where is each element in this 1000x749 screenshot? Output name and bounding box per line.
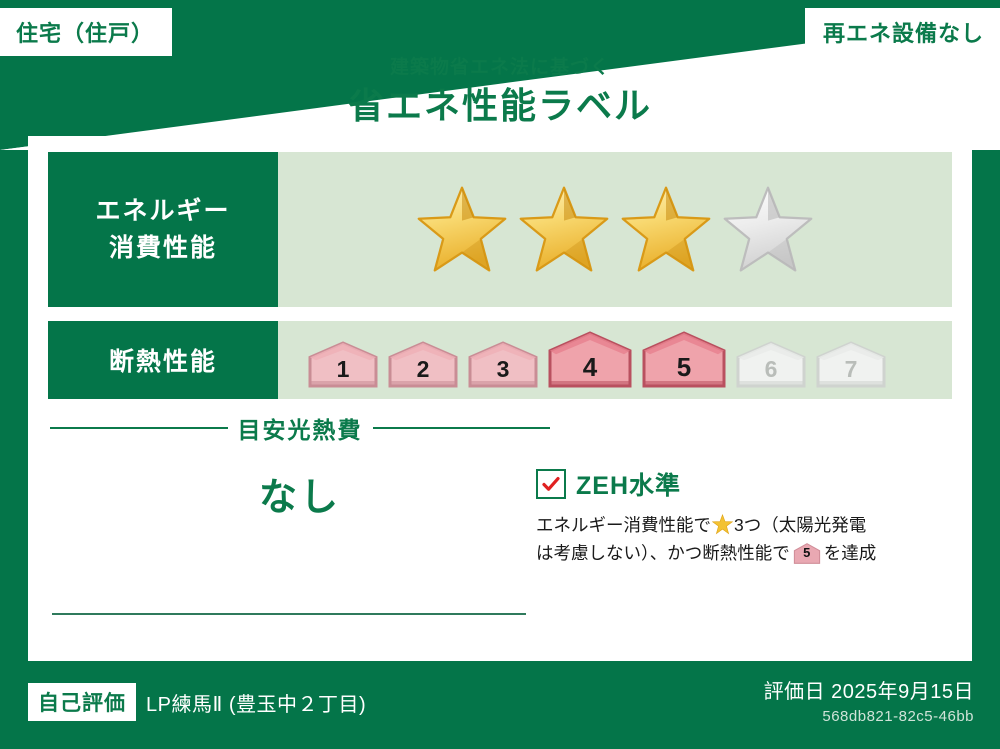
insulation-level-number: 7 <box>814 356 888 383</box>
zeh-header: ZEH水準 <box>536 466 956 502</box>
energy-label-line1: エネルギー <box>95 193 230 229</box>
insulation-label-text: 断熱性能 <box>109 342 217 378</box>
insulation-level-number: 5 <box>640 352 728 383</box>
star-filled-icon <box>619 183 713 277</box>
zeh-title: ZEH水準 <box>576 466 681 502</box>
zeh-desc-part2: は考慮しない）、かつ断熱性能で <box>536 543 790 563</box>
star-rating <box>415 183 815 277</box>
evaluation-id: 568db821-82c5-46bb <box>764 708 974 725</box>
zeh-desc-star-count: 3つ（太陽光発電 <box>734 515 866 535</box>
zeh-desc-part1: エネルギー消費性能で <box>536 515 711 535</box>
title-block: 建築物省エネ法に基づく 省エネ性能ラベル <box>0 58 1000 128</box>
utility-cost-heading-text: 目安光熱費 <box>238 411 363 445</box>
utility-cost-value: なし <box>50 466 550 521</box>
zeh-checkbox[interactable] <box>536 469 566 499</box>
zeh-description: エネルギー消費性能で3つ（太陽光発電は考慮しない）、かつ断熱性能で5を達成 <box>536 511 956 568</box>
rule-left <box>50 427 228 429</box>
insulation-level-number: 1 <box>306 356 380 383</box>
energy-consumption-value <box>278 152 952 307</box>
insulation-level-number: 6 <box>734 356 808 383</box>
footer-right: 評価日 2025年9月15日 568db821-82c5-46bb <box>764 675 974 725</box>
star-filled-icon <box>517 183 611 277</box>
insulation-label: 断熱性能 <box>48 321 278 399</box>
star-empty-icon <box>721 183 815 277</box>
utility-cost-heading: 目安光熱費 <box>50 411 550 445</box>
insulation-level-5[interactable]: 5 <box>640 331 728 389</box>
energy-consumption-row: エネルギー 消費性能 <box>48 152 952 307</box>
zeh-block: ZEH水準 エネルギー消費性能で3つ（太陽光発電は考慮しない）、かつ断熱性能で5… <box>536 466 956 568</box>
insulation-level-2[interactable]: 2 <box>386 341 460 389</box>
check-icon <box>541 474 561 494</box>
energy-consumption-label: エネルギー 消費性能 <box>48 152 278 307</box>
footer-left: 自己評価 LP練馬Ⅱ (豊玉中２丁目) <box>28 683 366 721</box>
insulation-level-number: 2 <box>386 356 460 383</box>
insulation-scale: 1234567 <box>278 331 888 389</box>
energy-label-line2: 消費性能 <box>109 230 217 266</box>
insulation-level-1[interactable]: 1 <box>306 341 380 389</box>
rule-right <box>373 427 551 429</box>
footer: 自己評価 LP練馬Ⅱ (豊玉中２丁目) 評価日 2025年9月15日 568db… <box>0 661 1000 749</box>
badge-renewable-energy: 再エネ設備なし <box>805 8 1000 56</box>
evaluation-type-badge: 自己評価 <box>28 683 136 721</box>
insulation-level-number: 4 <box>546 352 634 383</box>
page-title: 省エネ性能ラベル <box>0 83 1000 128</box>
insulation-level-4[interactable]: 4 <box>546 331 634 389</box>
zeh-desc-part3: を達成 <box>824 543 877 563</box>
badge-housing-type: 住宅（住戸） <box>0 8 172 56</box>
utility-cost-bottom-rule <box>52 613 526 615</box>
property-name: LP練馬Ⅱ (豊玉中２丁目) <box>146 688 366 717</box>
insulation-level-7[interactable]: 7 <box>814 341 888 389</box>
insulation-row: 断熱性能 1234567 <box>48 321 952 399</box>
label-body: エネルギー 消費性能 断熱性能 1234567 目安光熱費 なし <box>28 136 972 661</box>
insulation-level-number: 3 <box>466 356 540 383</box>
title-subtitle: 建築物省エネ法に基づく <box>0 58 1000 79</box>
inline-house-icon: 5 <box>793 543 821 564</box>
star-filled-icon <box>415 183 509 277</box>
energy-performance-label: 住宅（住戸） 再エネ設備なし 建築物省エネ法に基づく 省エネ性能ラベル エネルギ… <box>0 0 1000 749</box>
evaluation-date: 評価日 2025年9月15日 <box>764 675 974 704</box>
insulation-level-3[interactable]: 3 <box>466 341 540 389</box>
insulation-value: 1234567 <box>278 321 952 399</box>
inline-house-number: 5 <box>793 542 821 563</box>
insulation-level-6[interactable]: 6 <box>734 341 808 389</box>
inline-star-icon <box>712 514 733 535</box>
